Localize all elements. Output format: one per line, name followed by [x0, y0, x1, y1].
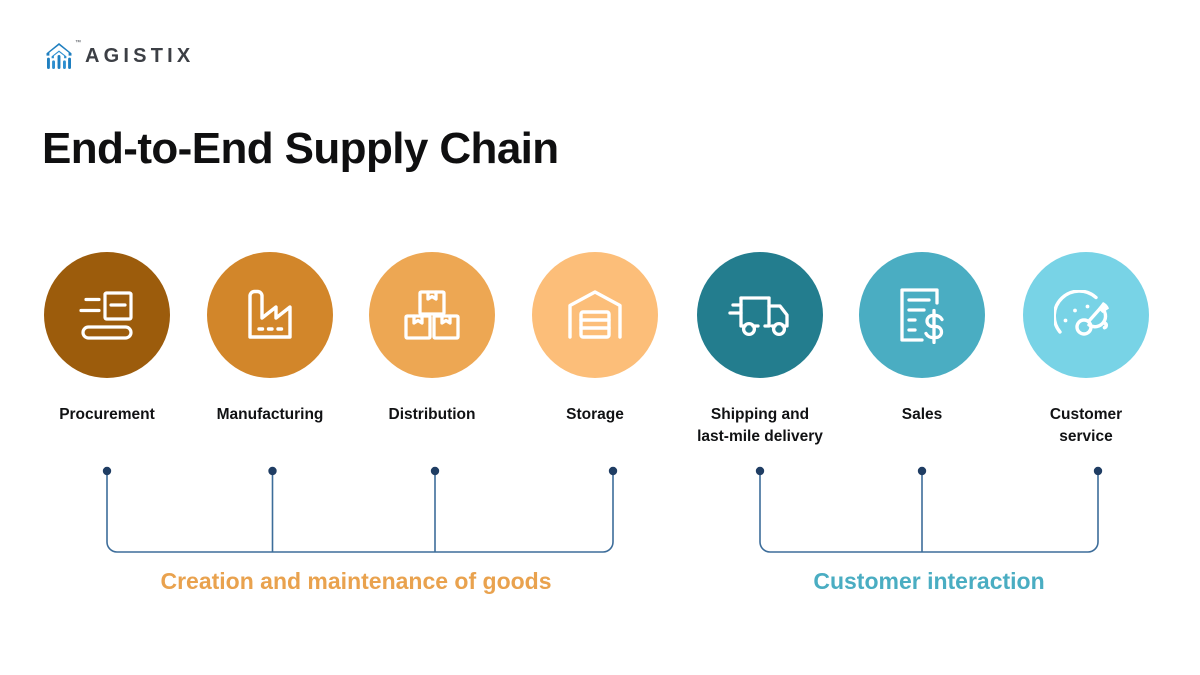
stage-label: Storage [515, 404, 675, 426]
stage-storage: Storage [532, 252, 658, 426]
stage-icon-circle [532, 252, 658, 378]
slide-canvas: ™ AGISTIX End-to-End Supply Chain Procur… [0, 0, 1200, 675]
stage-label: Manufacturing [190, 404, 350, 426]
trademark-symbol: ™ [75, 40, 81, 46]
invoice-dollar-icon [896, 286, 948, 344]
package-on-conveyor-icon [75, 287, 139, 343]
stage-customer-service: Customer service [1023, 252, 1149, 449]
stage-icon-circle [207, 252, 333, 378]
bracket-customer-interaction [748, 466, 1110, 558]
stage-shipping-and-last-mile-delivery: Shipping and last-mile delivery [697, 252, 823, 449]
bracket-caption-customer-interaction: Customer interaction [748, 568, 1110, 595]
stage-procurement: Procurement [44, 252, 170, 426]
stage-distribution: Distribution [369, 252, 495, 426]
factory-icon [240, 287, 300, 343]
stage-icon-circle [859, 252, 985, 378]
warehouse-icon [565, 288, 625, 342]
stage-icon-circle [44, 252, 170, 378]
delivery-truck-icon [727, 289, 793, 341]
bracket-creation-and-maintenance [95, 466, 625, 558]
stage-label: Shipping and last-mile delivery [680, 404, 840, 449]
page-title: End-to-End Supply Chain [42, 124, 559, 174]
brand-wordmark: AGISTIX [85, 46, 194, 66]
stage-manufacturing: Manufacturing [207, 252, 333, 426]
stage-label: Procurement [27, 404, 187, 426]
stage-icon-circle [1023, 252, 1149, 378]
agistix-house-bars-logo-icon [44, 40, 74, 72]
stacked-boxes-icon [403, 287, 461, 343]
stage-label: Customer service [1006, 404, 1166, 449]
gauge-wrench-icon [1054, 290, 1118, 340]
stage-sales: Sales [859, 252, 985, 426]
stage-label-line-1: Customer [1050, 406, 1122, 423]
stage-label-line-2: service [1059, 428, 1112, 445]
brand-logo: ™ AGISTIX [44, 36, 194, 76]
stage-icon-circle [369, 252, 495, 378]
stage-icon-circle [697, 252, 823, 378]
stage-label-line-2: last-mile delivery [697, 428, 823, 445]
stage-label: Sales [842, 404, 1002, 426]
stage-label-line-1: Shipping and [711, 406, 809, 423]
bracket-caption-creation-and-maintenance: Creation and maintenance of goods [0, 568, 712, 595]
stage-label: Distribution [352, 404, 512, 426]
